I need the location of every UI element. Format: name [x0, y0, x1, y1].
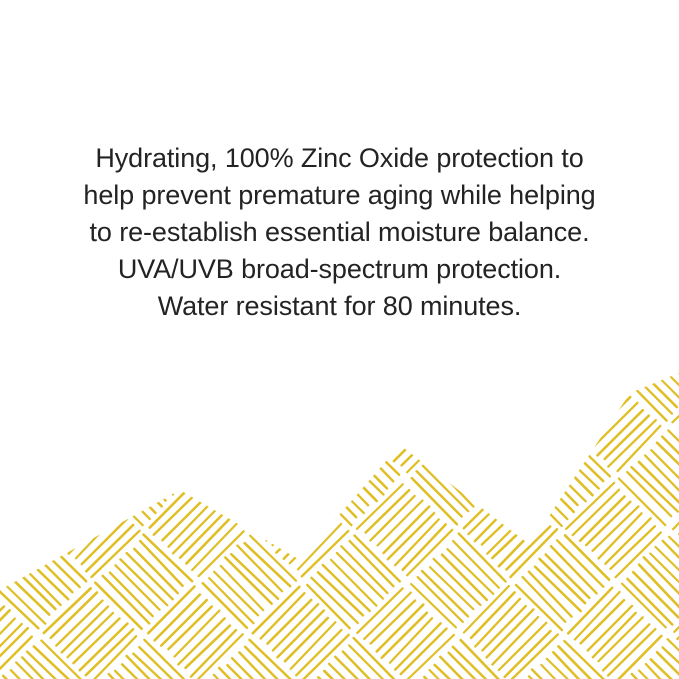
hatch-stroke [140, 332, 184, 376]
hatch-stroke [355, 12, 400, 57]
hatch-stroke [574, 384, 620, 430]
hatch-stroke [180, 512, 226, 558]
hatch-stroke [115, 565, 159, 609]
hatch-tile [462, 376, 559, 473]
hatch-stroke [0, 500, 4, 546]
hatch-stroke [92, 530, 140, 578]
hatch-stroke [461, 0, 508, 6]
hatch-stroke [657, 442, 679, 488]
hatch-stroke [109, 360, 157, 408]
hatch-stroke [122, 664, 167, 679]
hatch-stroke [318, 362, 364, 408]
hatch-tile [358, 0, 453, 55]
hatch-stroke [573, 592, 621, 640]
hatch-stroke [526, 46, 575, 95]
hatch-tile [0, 325, 87, 421]
hatch-stroke [353, 638, 400, 679]
hatch-stroke [499, 623, 546, 670]
hatch-stroke [622, 584, 666, 628]
hatch-stroke [552, 337, 597, 382]
hatch-tile [461, 586, 558, 679]
hatch-stroke [0, 0, 22, 41]
hatch-stroke [51, 0, 97, 12]
hatch-stroke [0, 419, 27, 465]
hatch-tile [305, 325, 401, 421]
hatch-stroke [342, 652, 388, 679]
hatch-stroke [661, 16, 679, 64]
hatch-stroke [103, 472, 150, 519]
hatch-stroke [127, 553, 173, 599]
hatch-stroke [639, 671, 679, 679]
hatch-stroke [21, 448, 69, 496]
hatch-tile [43, 377, 139, 473]
hatch-tile [95, 534, 192, 631]
hatch-stroke [492, 409, 537, 454]
hatch-stroke [516, 0, 562, 2]
hatch-stroke [16, 662, 62, 679]
hatch-stroke [567, 588, 613, 634]
hatch-stroke [354, 536, 400, 582]
hatch-stroke [388, 93, 436, 141]
hatch-stroke [540, 36, 585, 81]
hatch-stroke [332, 350, 376, 394]
hatch-tile [671, 0, 679, 54]
hatch-stroke [75, 92, 122, 139]
hatch-stroke [221, 461, 266, 506]
hatch-stroke [214, 363, 261, 410]
hatch-stroke [29, 24, 73, 68]
hatch-stroke [51, 71, 96, 116]
hatch-tile [514, 638, 610, 679]
hatch-stroke [574, 0, 620, 10]
hatch-stroke [401, 629, 447, 675]
hatch-stroke [341, 442, 387, 488]
hatch-tile [410, 0, 506, 2]
hatch-stroke [662, 541, 679, 588]
hatch-stroke [21, 657, 67, 679]
hatch-stroke [202, 61, 246, 105]
hatch-stroke [482, 606, 526, 650]
hatch-tile [304, 638, 401, 679]
hatch-stroke [516, 480, 562, 526]
hatch-stroke [474, 599, 522, 647]
hatch-stroke [245, 647, 290, 679]
hatch-stroke [645, 664, 679, 679]
hatch-tile [200, 638, 297, 679]
hatch-stroke [259, 69, 306, 116]
hatch-stroke [249, 11, 296, 58]
hatch-stroke [335, 29, 382, 76]
hatch-stroke [498, 518, 546, 566]
hatch-stroke [307, 585, 350, 628]
hatch-stroke [670, 326, 679, 372]
hatch-stroke [674, 587, 679, 632]
hatch-stroke [0, 576, 45, 624]
hatch-stroke [0, 407, 16, 453]
hatch-stroke [0, 628, 28, 674]
hatch-stroke [279, 402, 324, 447]
hatch-tile [409, 10, 506, 107]
hatch-stroke [378, 396, 424, 442]
hatch-tile [306, 10, 402, 106]
hatch-stroke [131, 23, 179, 71]
hatch-stroke [476, 0, 521, 16]
hatch-stroke [0, 425, 35, 473]
hatch-stroke [232, 658, 278, 679]
hatch-stroke [458, 534, 506, 582]
hatch-stroke [278, 0, 322, 28]
hatch-stroke [533, 355, 581, 403]
hatch-stroke [566, 482, 614, 530]
hatch-stroke [608, 629, 655, 676]
hatch-stroke [460, 640, 505, 679]
hatch-stroke [336, 344, 382, 390]
hatch-stroke [33, 541, 79, 587]
hatch-stroke [185, 0, 231, 41]
hatch-stroke [573, 489, 619, 535]
hatch-stroke [28, 548, 72, 592]
hatch-stroke [424, 363, 469, 408]
hatch-tile [357, 482, 452, 577]
hatch-stroke [277, 610, 324, 657]
hatch-stroke [584, 82, 631, 129]
hatch-stroke [487, 87, 534, 134]
hatch-stroke [341, 546, 388, 593]
hatch-stroke [76, 408, 120, 452]
hatch-tile [252, 0, 348, 54]
hatch-stroke [440, 448, 488, 496]
hatch-stroke [121, 36, 167, 82]
hatch-stroke [671, 63, 679, 110]
hatch-stroke [238, 24, 284, 70]
hatch-stroke [27, 651, 75, 679]
hatch-stroke [383, 507, 429, 553]
hatch-stroke [266, 75, 312, 121]
hatch-stroke [190, 1, 236, 47]
hatch-stroke [440, 28, 488, 76]
hatch-stroke [521, 368, 566, 413]
hatch-tile [672, 481, 679, 577]
hatch-stroke [632, 48, 679, 95]
hatch-stroke [464, 483, 510, 529]
hatch-tile [357, 586, 454, 679]
hatch-stroke [21, 28, 68, 75]
hatch-stroke [377, 0, 422, 22]
hatch-stroke [460, 12, 504, 56]
hatch-stroke [0, 530, 34, 576]
hatch-stroke [453, 646, 498, 679]
hatch-stroke [305, 478, 352, 525]
hatch-stroke [627, 472, 671, 516]
hatch-stroke [307, 60, 352, 105]
hatch-tile [619, 430, 679, 526]
hatch-stroke [598, 410, 643, 455]
hatch-stroke [442, 344, 489, 391]
hatch-stroke [417, 54, 462, 99]
hatch-stroke [283, 93, 331, 141]
hatch-stroke [214, 572, 258, 616]
hatch-stroke [154, 595, 200, 641]
hatch-stroke [259, 488, 307, 536]
hatch-stroke [68, 87, 116, 135]
hatch-stroke [605, 518, 650, 563]
hatch-stroke [0, 90, 9, 133]
hatch-stroke [593, 0, 639, 29]
hatch-stroke [139, 18, 183, 62]
hatch-stroke [0, 606, 4, 652]
hatch-stroke [440, 657, 487, 679]
hatch-stroke [167, 0, 214, 23]
hatch-stroke [92, 322, 137, 367]
hatch-stroke [639, 462, 679, 507]
hatch-stroke [50, 490, 95, 535]
hatch-stroke [650, 344, 679, 390]
hatch-stroke [535, 566, 581, 612]
hatch-tile [619, 324, 679, 420]
hatch-tile [514, 0, 610, 2]
hatch-stroke [468, 488, 515, 535]
hatch-stroke [406, 8, 453, 55]
hatch-stroke [0, 0, 12, 29]
hatch-stroke [186, 625, 230, 669]
hatch-stroke [357, 484, 403, 530]
hatch-stroke [301, 425, 349, 473]
hatch-stroke [395, 0, 440, 41]
hatch-tile [305, 0, 401, 2]
hatch-tile [305, 534, 401, 630]
hatch-stroke [69, 0, 113, 27]
hatch-stroke [73, 618, 119, 664]
hatch-stroke [86, 629, 133, 676]
hatch-stroke [411, 583, 456, 628]
hatch-stroke [626, 367, 672, 413]
hatch-tile [95, 10, 192, 107]
hatch-stroke [663, 646, 679, 679]
hatch-stroke [364, 593, 410, 639]
hatch-stroke [506, 526, 550, 570]
hatch-stroke [133, 337, 178, 382]
hatch-stroke [651, 659, 679, 679]
hatch-stroke [574, 70, 619, 115]
hatch-stroke [620, 60, 665, 105]
hatch-stroke [364, 70, 411, 117]
hatch-stroke [143, 534, 192, 583]
hatch-stroke [347, 17, 393, 63]
hatch-stroke [133, 442, 179, 488]
hatch-stroke [307, 0, 352, 2]
hatch-stroke [494, 0, 539, 33]
hatch-stroke [540, 558, 585, 603]
hatch-stroke [15, 559, 61, 605]
hatch-stroke [117, 43, 160, 86]
hatch-stroke [10, 670, 56, 679]
hatch-stroke [156, 0, 201, 11]
hatch-stroke [460, 431, 505, 476]
hatch-stroke [162, 0, 207, 16]
hatch-stroke [324, 671, 370, 679]
hatch-stroke [50, 383, 96, 429]
hatch-tile [567, 0, 663, 54]
hatch-stroke [273, 500, 319, 546]
hatch-stroke [435, 36, 480, 81]
hatch-stroke [6, 48, 52, 94]
hatch-stroke [481, 396, 529, 444]
hatch-stroke [39, 326, 86, 373]
hatch-stroke [462, 376, 509, 423]
hatch-stroke [580, 496, 624, 540]
hatch-stroke [0, 94, 16, 140]
hatch-stroke [41, 13, 87, 59]
hatch-tile [0, 639, 87, 679]
hatch-stroke [253, 378, 299, 424]
hatch-stroke [33, 331, 78, 376]
hatch-stroke [581, 0, 625, 15]
hatch-stroke [453, 436, 500, 483]
hatch-stroke [563, 324, 609, 370]
hatch-stroke [139, 541, 184, 586]
hatch-stroke [394, 414, 441, 461]
hatch-stroke [533, 460, 578, 505]
hatch-stroke [41, 536, 87, 582]
hatch-stroke [45, 484, 90, 529]
hatch-stroke [462, 65, 508, 111]
hatch-tile [200, 325, 296, 421]
hatch-stroke [253, 587, 299, 633]
hatch-stroke [17, 38, 62, 83]
hatch-stroke [663, 331, 679, 376]
hatch-stroke [41, 430, 87, 476]
hatch-stroke [201, 374, 248, 421]
hatch-stroke [463, 586, 510, 633]
hatch-stroke [552, 652, 598, 679]
hatch-stroke [329, 36, 376, 83]
hatch-stroke [370, 496, 415, 541]
hatch-stroke [57, 77, 102, 122]
hatch-tile [95, 325, 191, 421]
hatch-tile [461, 0, 557, 54]
hatch-stroke [12, 565, 56, 609]
hatch-stroke [565, 535, 609, 579]
hatch-stroke [290, 622, 337, 669]
hatch-stroke [650, 553, 679, 599]
hatch-stroke [383, 0, 427, 29]
hatch-stroke [249, 431, 295, 477]
hatch-stroke [581, 76, 626, 121]
hatch-stroke [616, 426, 661, 471]
hatch-stroke [558, 646, 603, 679]
hatch-stroke [521, 577, 566, 622]
hatch-stroke [307, 374, 351, 418]
hatch-stroke [597, 0, 644, 35]
hatch-stroke [0, 401, 10, 447]
hatch-stroke [9, 460, 54, 505]
hatch-stroke [231, 342, 278, 389]
hatch-stroke [291, 414, 336, 459]
hatch-stroke [16, 454, 61, 499]
hatch-stroke [558, 19, 603, 64]
hatch-stroke [668, 430, 679, 474]
hatch-stroke [303, 7, 347, 51]
hatch-stroke [16, 349, 61, 394]
hatch-stroke [651, 29, 679, 75]
hatch-stroke [517, 375, 561, 419]
hatch-stroke [146, 12, 192, 58]
hatch-stroke [155, 384, 201, 430]
hatch-tile [149, 377, 245, 473]
hatch-stroke [291, 0, 335, 41]
hatch-stroke [633, 572, 678, 617]
hatch-stroke [337, 553, 383, 599]
hatch-stroke [0, 369, 43, 413]
hatch-stroke [324, 356, 370, 402]
hatch-stroke [209, 473, 253, 517]
hatch-stroke [27, 441, 75, 489]
hatch-stroke [556, 330, 603, 377]
hatch-stroke [266, 495, 311, 540]
hatch-stroke [120, 559, 167, 606]
hatch-stroke [92, 7, 139, 54]
hatch-stroke [250, 639, 296, 679]
hatch-stroke [318, 467, 364, 513]
hatch-stroke [608, 420, 655, 467]
hatch-stroke [62, 0, 108, 23]
hatch-stroke [499, 101, 543, 145]
hatch-stroke [468, 69, 516, 117]
hatch-stroke [389, 618, 434, 663]
hatch-stroke [545, 30, 591, 76]
hatch-stroke [364, 384, 410, 430]
hatch-stroke [227, 665, 270, 679]
hatch-stroke [626, 54, 673, 101]
hatch-stroke [510, 529, 558, 577]
hatch-tile-group [0, 0, 679, 679]
hatch-stroke [395, 623, 441, 669]
hatch-stroke [534, 43, 578, 87]
hatch-stroke [539, 348, 586, 395]
hatch-stroke [238, 652, 283, 679]
hatch-stroke [564, 640, 609, 679]
hatch-stroke [190, 630, 236, 676]
hatch-stroke [102, 54, 149, 101]
hatch-stroke [564, 11, 610, 57]
hatch-stroke [545, 448, 592, 495]
hatch-stroke [115, 356, 160, 401]
hatch-stroke [0, 415, 21, 461]
hatch-stroke [45, 66, 89, 110]
hatch-stroke [277, 89, 323, 135]
hatch-tile [201, 430, 296, 525]
hatch-tile [514, 429, 611, 526]
hatch-stroke [335, 657, 381, 679]
hatch-tile [96, 0, 192, 2]
hatch-stroke [528, 572, 573, 617]
hatch-stroke [369, 389, 417, 437]
hatch-stroke [0, 637, 32, 679]
hatch-stroke [329, 664, 376, 679]
hatch-stroke [319, 49, 365, 95]
hatch-stroke [85, 420, 132, 467]
hatch-stroke [150, 484, 194, 528]
hatch-stroke [603, 624, 649, 670]
description-line-2: help prevent premature aging while helpi… [0, 177, 679, 214]
hatch-stroke [191, 523, 238, 570]
hatch-stroke [161, 600, 207, 646]
hatch-stroke [11, 357, 57, 403]
hatch-stroke [644, 455, 679, 501]
hatch-tile [410, 638, 506, 679]
hatch-stroke [452, 17, 500, 65]
hatch-stroke [259, 383, 307, 431]
